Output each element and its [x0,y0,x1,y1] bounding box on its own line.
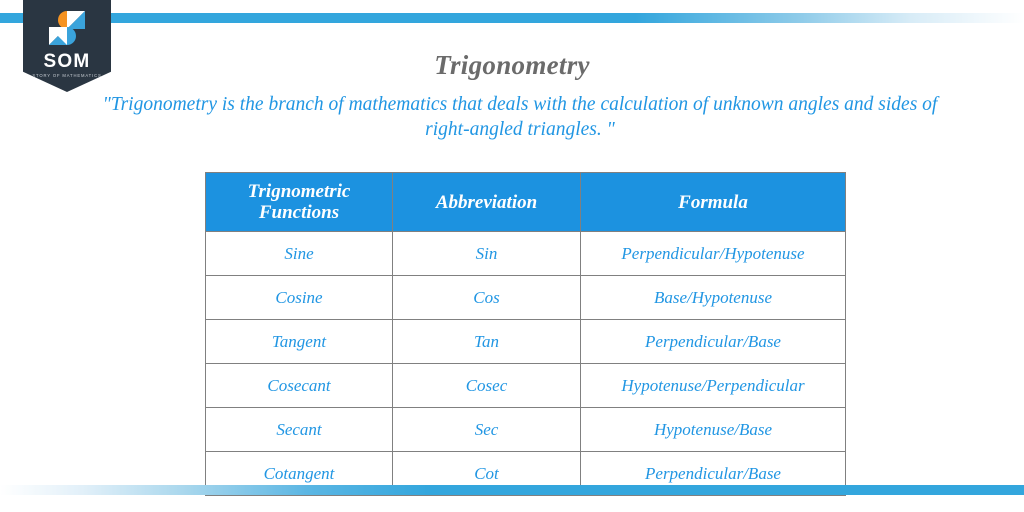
cell-function: Tangent [206,320,393,364]
table-header: Trignometric Functions Abbreviation Form… [206,173,846,232]
cell-abbreviation: Cosec [393,364,581,408]
column-header-abbreviation: Abbreviation [393,173,581,232]
cell-abbreviation: Sin [393,232,581,276]
cell-abbreviation: Tan [393,320,581,364]
cell-function: Cosecant [206,364,393,408]
page-subtitle-quote: "Trigonometry is the branch of mathemati… [100,92,940,142]
table-body: Sine Sin Perpendicular/Hypotenuse Cosine… [206,232,846,496]
cell-function: Cosine [206,276,393,320]
table-row: Sine Sin Perpendicular/Hypotenuse [206,232,846,276]
table-row: Cosecant Cosec Hypotenuse/Perpendicular [206,364,846,408]
page-title: Trigonometry [0,50,1024,81]
cell-abbreviation: Sec [393,408,581,452]
trigonometric-functions-table: Trignometric Functions Abbreviation Form… [205,172,846,496]
cell-function: Secant [206,408,393,452]
cell-formula: Perpendicular/Hypotenuse [581,232,846,276]
cell-formula: Perpendicular/Base [581,320,846,364]
som-s-monogram-icon [47,10,87,46]
top-accent-rule [0,13,1024,23]
cell-function: Sine [206,232,393,276]
cell-abbreviation: Cos [393,276,581,320]
column-header-formula: Formula [581,173,846,232]
cell-formula: Hypotenuse/Perpendicular [581,364,846,408]
table-row: Tangent Tan Perpendicular/Base [206,320,846,364]
table-header-row: Trignometric Functions Abbreviation Form… [206,173,846,232]
table-row: Secant Sec Hypotenuse/Base [206,408,846,452]
cell-formula: Base/Hypotenuse [581,276,846,320]
column-header-function: Trignometric Functions [206,173,393,232]
cell-formula: Hypotenuse/Base [581,408,846,452]
table-row: Cosine Cos Base/Hypotenuse [206,276,846,320]
bottom-accent-rule [0,485,1024,495]
